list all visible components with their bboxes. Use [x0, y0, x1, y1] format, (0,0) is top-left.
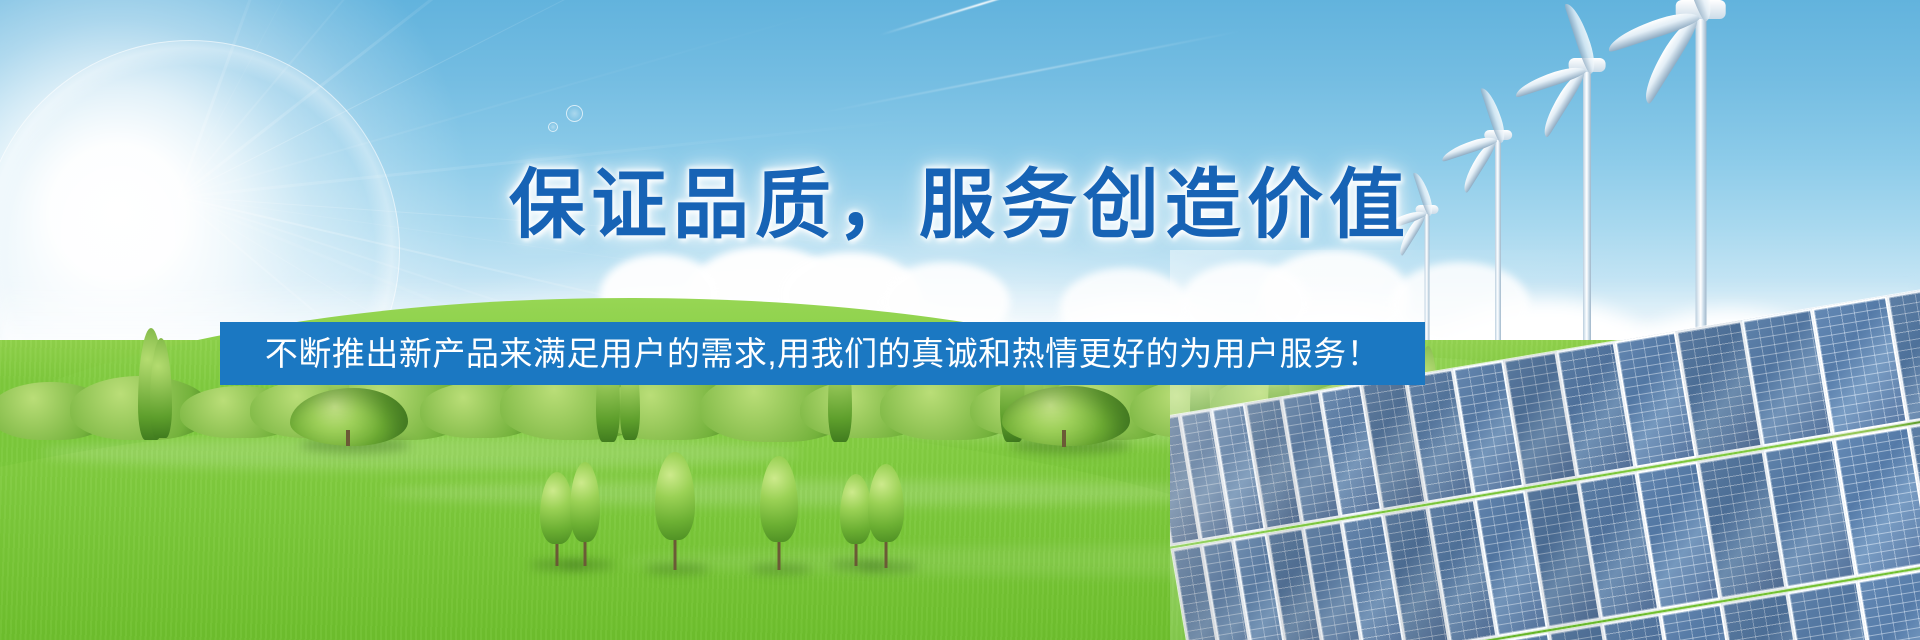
sapling-crown	[868, 464, 904, 542]
solar-panel-array	[1170, 250, 1920, 640]
tree-trunk	[1062, 430, 1066, 447]
sapling-crown	[540, 472, 574, 544]
sapling-trunk	[778, 542, 781, 570]
solar-panel-cell	[1857, 568, 1920, 640]
subtitle-bar: 不断推出新产品来满足用户的需求,用我们的真诚和热情更好的为用户服务！	[220, 322, 1425, 385]
sapling-trunk	[556, 544, 559, 566]
sapling-trunk	[584, 542, 587, 566]
sapling-crown	[570, 462, 600, 542]
subtitle-text: 不断推出新产品来满足用户的需求,用我们的真诚和热情更好的为用户服务！	[265, 337, 1380, 370]
sapling-trunk	[885, 542, 888, 568]
sapling-crown	[655, 452, 695, 540]
sapling-tree	[570, 462, 600, 566]
sapling-tree	[540, 472, 574, 566]
sapling-tree	[655, 452, 695, 570]
sapling-tree	[760, 456, 798, 570]
hero-banner: 保证品质，服务创造价值 不断推出新产品来满足用户的需求,用我们的真诚和热情更好的…	[0, 0, 1920, 640]
page-title: 保证品质，服务创造价值	[0, 168, 1920, 244]
cypress-tree	[150, 338, 172, 438]
tree-trunk	[346, 430, 350, 446]
sapling-trunk	[674, 540, 677, 570]
sapling-tree	[868, 464, 904, 568]
sapling-crown	[760, 456, 798, 542]
sapling-trunk	[855, 544, 858, 566]
